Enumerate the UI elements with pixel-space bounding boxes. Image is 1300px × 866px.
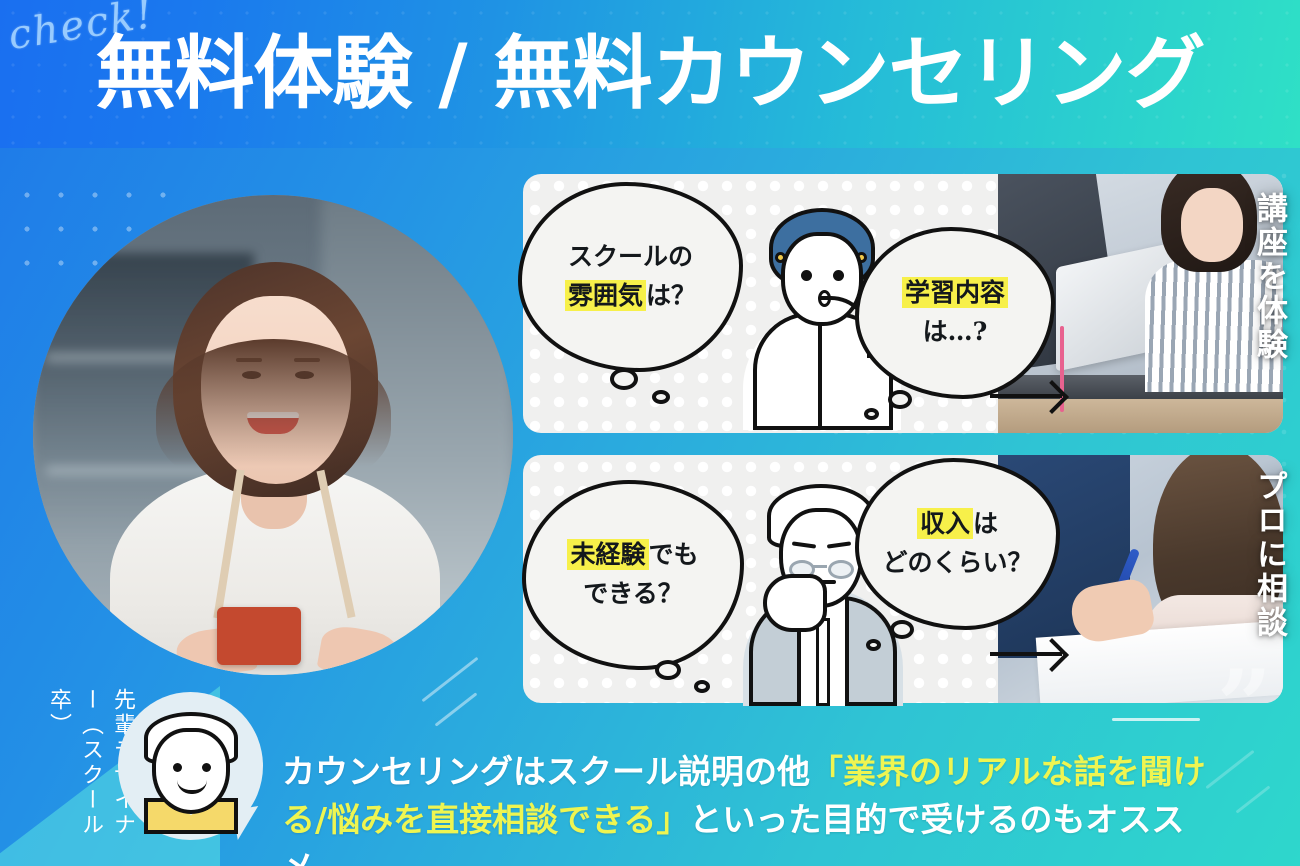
thought-tail-dot	[890, 620, 914, 639]
bubble-4-highlight: 収入	[917, 508, 973, 539]
smiling-woman-photo	[33, 195, 513, 675]
caption-seg-1: カウンセリングはスクール説明の他	[282, 752, 810, 791]
illus-man-tie	[816, 618, 830, 706]
photo-hair-front	[156, 339, 391, 489]
bubble-3-text: 未経験でも できる？	[567, 536, 698, 614]
bubble-1-line-2: は？	[646, 281, 696, 310]
bubble-2-highlight: 学習内容	[902, 277, 1008, 308]
bubble-2-line-2: は…?	[923, 317, 988, 346]
right-arrow-icon	[990, 394, 1062, 398]
illus-man-hand	[763, 574, 827, 632]
quote-rule	[1112, 718, 1200, 721]
bubble-1-highlight: 雰囲気	[565, 280, 646, 311]
thought-bubble-no-experience: 未経験でも できる？	[522, 480, 744, 670]
illus-man-brow-right	[827, 542, 851, 549]
bubble-2-text: 学習内容 は…?	[902, 274, 1008, 352]
avatar-eye-right	[202, 763, 211, 772]
photo-red-notebook	[217, 607, 301, 665]
caption-quote-open: 「	[810, 752, 843, 791]
bubble-4-text: 収入は どのくらい？	[882, 505, 1032, 583]
panel-2-side-label: プロに相談	[1253, 470, 1284, 640]
thought-tail-dot	[610, 368, 638, 390]
avatar-face	[152, 728, 230, 814]
caption-highlight-b: 悩みを直接相談できる	[327, 800, 656, 839]
avatar-eye-left	[173, 763, 182, 772]
illus-woman-eye-right	[833, 270, 844, 281]
thought-tail-dot	[866, 639, 881, 651]
thought-tail-dot	[888, 390, 912, 409]
decorative-slash	[435, 692, 478, 726]
illus-woman-eye-left	[801, 270, 812, 281]
bubble-1-line-1: スクールの	[568, 242, 693, 271]
quote-mark-icon: ”	[1217, 658, 1272, 754]
right-arrow-icon	[990, 652, 1062, 656]
caption-quote-close: 」	[656, 800, 689, 839]
page-title: 無料体験 / 無料カウンセリング	[96, 34, 1205, 114]
panel-1-woman-face	[1181, 188, 1243, 262]
footer-caption: カウンセリングはスクール説明の他「業界のリアルな話を聞ける/悩みを直接相談できる…	[282, 748, 1242, 866]
thought-tail-dot	[652, 390, 670, 404]
bubble-3-highlight: 未経験	[567, 539, 648, 570]
bubble-3-line-1: でも	[649, 540, 699, 569]
male-designer-avatar	[118, 692, 263, 840]
header-band: check! 無料体験 / 無料カウンセリング	[0, 0, 1300, 148]
illus-man-glasses-bridge	[813, 565, 827, 568]
thought-bubble-learning-content: 学習内容 は…?	[855, 227, 1055, 399]
bubble-4-line-2: どのくらい？	[882, 548, 1032, 577]
thought-tail-dot	[864, 408, 879, 420]
thought-bubble-income: 収入は どのくらい？	[855, 458, 1060, 630]
avatar-smile	[177, 780, 207, 794]
bubble-3-line-2: できる？	[583, 579, 683, 608]
banner-root: check! 無料体験 / 無料カウンセリング	[0, 0, 1300, 866]
illus-man-glasses-right	[828, 560, 854, 579]
bubble-4-line-1: は	[973, 509, 998, 538]
bubble-1-text: スクールの 雰囲気は？	[565, 238, 696, 316]
thought-tail-dot	[694, 680, 710, 693]
illus-man-brow-left	[792, 542, 816, 549]
panel-1-desk	[998, 399, 1283, 433]
thought-bubble-school-atmosphere: スクールの 雰囲気は？	[518, 182, 743, 372]
thought-tail-dot	[655, 660, 681, 680]
panel-1-side-label: 講座を体験	[1253, 192, 1284, 362]
